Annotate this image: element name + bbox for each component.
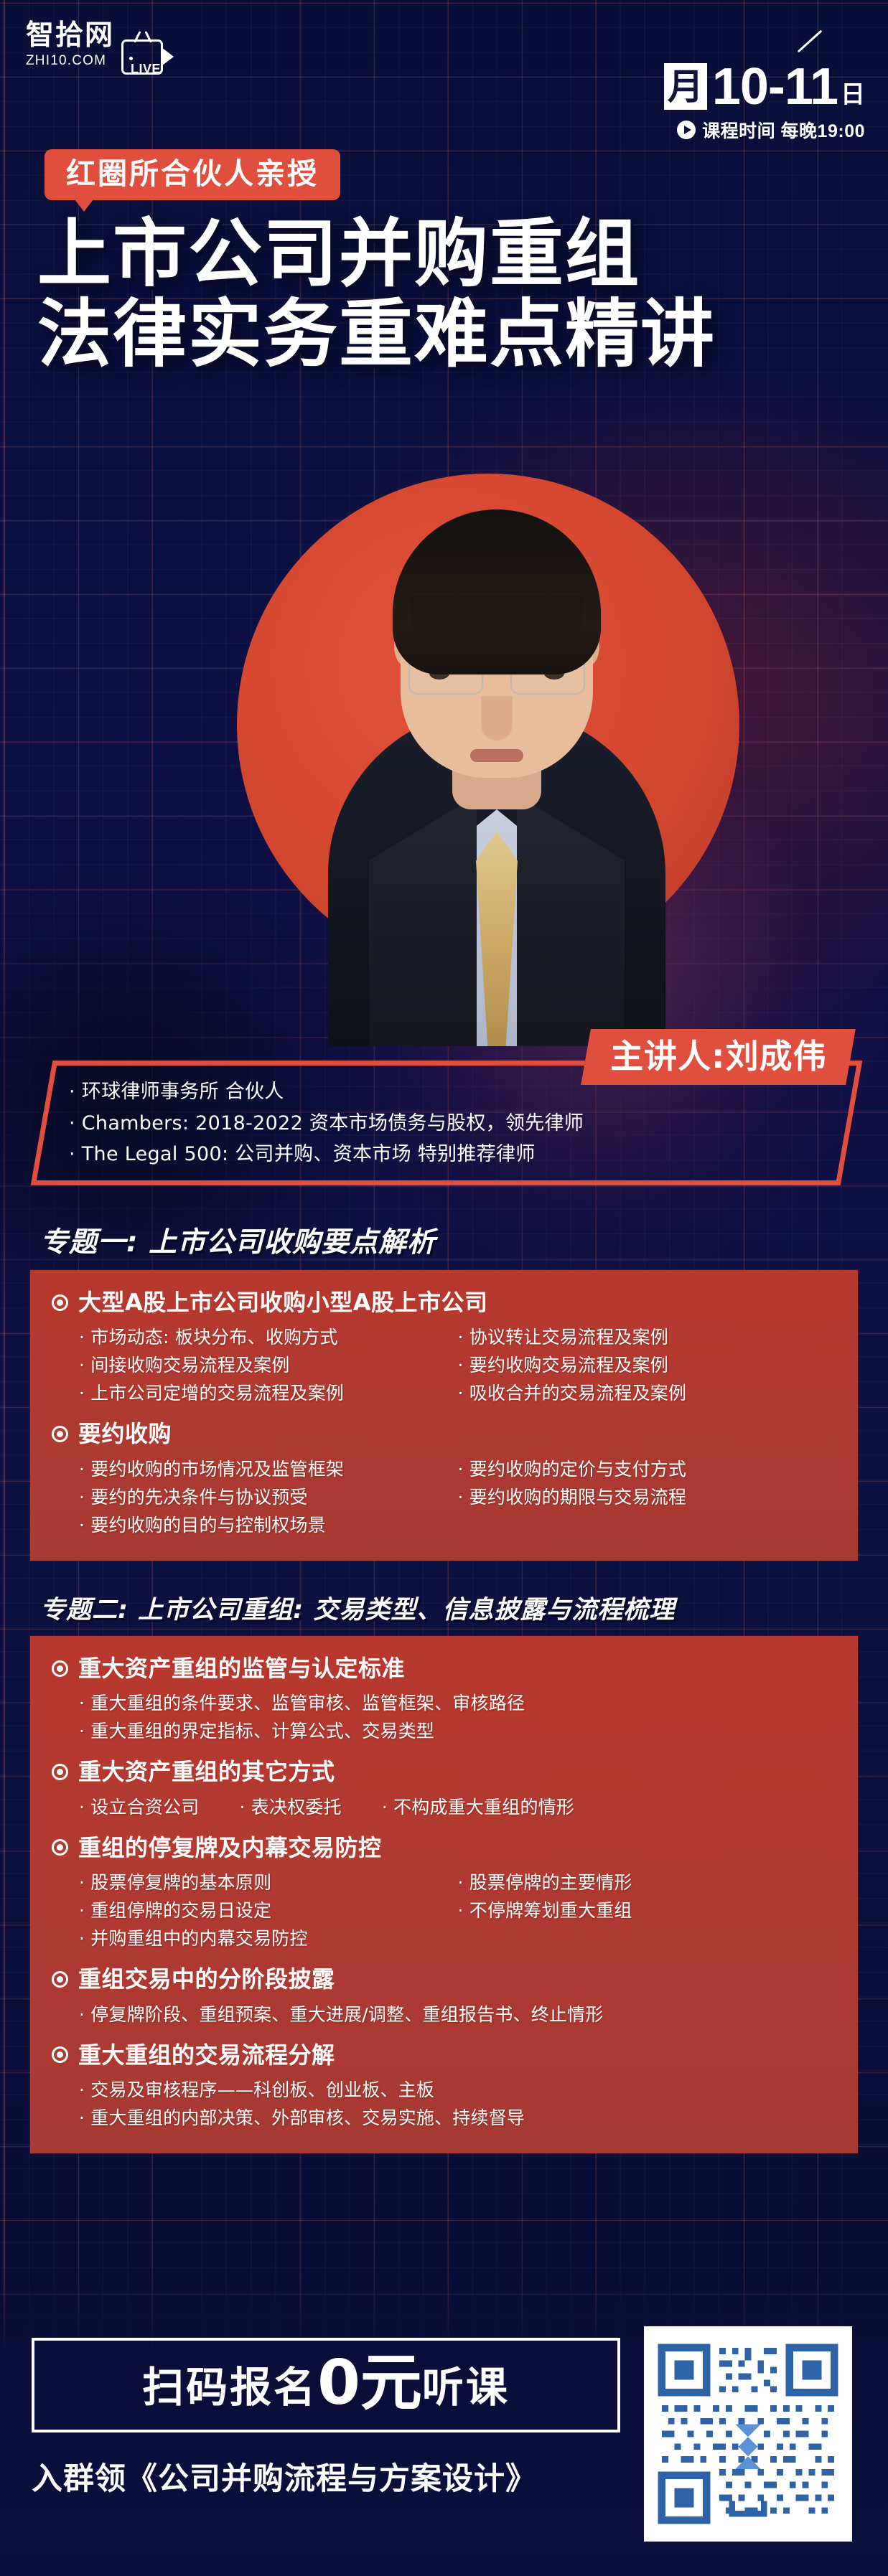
page-title: 上市公司并购重组 法律实务重难点精讲 [37, 215, 856, 373]
group-items: 股票停复牌的基本原则 股票停牌的主要情形 重组停牌的交易日设定 不停牌筹划重大重… [52, 1868, 836, 1952]
group-title-text: 重组交易中的分阶段披露 [78, 1965, 335, 1993]
group-title-text: 重大资产重组的监管与认定标准 [78, 1655, 405, 1682]
topic-group: 要约收购 要约收购的市场情况及监管框架 要约收购的定价与支付方式 要约的先决条件… [52, 1420, 836, 1538]
group-title-text: 要约收购 [78, 1420, 172, 1447]
list-item: 股票停牌的主要情形 [458, 1868, 837, 1896]
group-title-text: 大型A股上市公司收购小型A股上市公司 [78, 1289, 488, 1316]
group-items: 交易及审核程序——科创板、创业板、主板 重大重组的内部决策、外部审核、交易实施、… [52, 2076, 836, 2132]
day-label: 日 [841, 83, 865, 110]
course-date-block: 月 10-11 日 课程时间 每晚19:00 [664, 63, 865, 143]
group-title-row: 重组交易中的分阶段披露 [52, 1965, 836, 1993]
bullet-ring-icon [52, 1764, 68, 1780]
title-line-2: 法律实务重难点精讲 [37, 296, 856, 373]
group-items: 重大重组的条件要求、监管审核、监管框架、审核路径 重大重组的界定指标、计算公式、… [52, 1689, 836, 1745]
portrait-nose [481, 696, 513, 741]
brand-name-cn: 智拾网 [26, 22, 114, 51]
topic-1-box: 大型A股上市公司收购小型A股上市公司 市场动态: 板块分布、收购方式 协议转让交… [30, 1270, 858, 1561]
list-item: 间接收购交易流程及案例 [79, 1351, 458, 1379]
list-item: 不构成重大重组的情形 [382, 1793, 574, 1821]
day-range: 10-11 [712, 65, 838, 110]
list-item: 重大重组的条件要求、监管审核、监管框架、审核路径 [79, 1689, 836, 1717]
list-item: 股票停复牌的基本原则 [79, 1868, 458, 1896]
bullet-ring-icon [52, 1294, 68, 1311]
speaker-name-text: 主讲人:刘成伟 [610, 1040, 826, 1073]
tv-live-icon: LIVE [121, 30, 174, 75]
list-item: 并购重组中的内幕交易防控 [79, 1924, 458, 1952]
list-item: 要约收购的目的与控制权场景 [79, 1511, 458, 1539]
topic-group: 重组交易中的分阶段披露 停复牌阶段、重组预案、重大进展/调整、重组报告书、终止情… [52, 1965, 836, 2028]
topic-2-box: 重大资产重组的监管与认定标准 重大重组的条件要求、监管审核、监管框架、审核路径 … [30, 1636, 858, 2153]
list-item: 协议转让交易流程及案例 [458, 1323, 837, 1351]
instructor-tag: 红圈所合伙人亲授 [45, 149, 340, 200]
list-item: 要约收购的期限与交易流程 [458, 1483, 837, 1511]
cta-block[interactable]: 扫码报名 0 元 听课 入群领《公司并购流程与方案设计》 [32, 2338, 620, 2499]
group-title-text: 重大重组的交易流程分解 [78, 2041, 335, 2069]
topic-section-1: 专题一: 上市公司收购要点解析 大型A股上市公司收购小型A股上市公司 市场动态:… [30, 1220, 858, 1561]
speaker-credentials: 环球律师事务所 合伙人 Chambers: 2018-2022 资本市场债务与股… [69, 1076, 787, 1170]
instructor-tag-text: 红圈所合伙人亲授 [66, 156, 319, 191]
bullet-ring-icon [52, 1660, 68, 1677]
topic-group: 重大重组的交易流程分解 交易及审核程序——科创板、创业板、主板 重大重组的内部决… [52, 2041, 836, 2132]
list-item: 上市公司定增的交易流程及案例 [79, 1379, 458, 1407]
cta-prefix: 扫码报名 [142, 2354, 317, 2414]
list-item: 要约收购交易流程及案例 [458, 1351, 837, 1379]
topic-group: 大型A股上市公司收购小型A股上市公司 市场动态: 板块分布、收购方式 协议转让交… [52, 1289, 836, 1407]
list-item: 重组停牌的交易日设定 [79, 1896, 458, 1924]
list-item: 吸收合并的交易流程及案例 [458, 1379, 837, 1407]
live-label: LIVE [129, 62, 162, 77]
qr-code-graphic [655, 2338, 841, 2530]
brand-logo: 智拾网 ZHI10.COM LIVE [26, 22, 174, 75]
group-items: 要约收购的市场情况及监管框架 要约收购的定价与支付方式 要约的先决条件与协议预受… [52, 1455, 836, 1539]
title-line-1: 上市公司并购重组 [37, 215, 856, 293]
bullet-ring-icon [52, 1971, 68, 1988]
list-item: 不停牌筹划重大重组 [458, 1896, 837, 1924]
bullet-ring-icon [52, 1426, 68, 1442]
play-icon [677, 121, 696, 139]
qr-code-icon[interactable] [644, 2326, 852, 2542]
list-item: 市场动态: 板块分布、收购方式 [79, 1323, 458, 1351]
list-item: 重大重组的内部决策、外部审核、交易实施、持续督导 [79, 2104, 836, 2132]
cta-suffix: 听课 [422, 2354, 510, 2414]
list-item: 设立合资公司 [79, 1793, 200, 1821]
cta-unit: 元 [360, 2356, 422, 2411]
footer-bar [0, 2554, 888, 2576]
group-items: 市场动态: 板块分布、收购方式 协议转让交易流程及案例 间接收购交易流程及案例 … [52, 1323, 836, 1407]
speaker-portrait [324, 459, 669, 1046]
topic-group: 重大资产重组的其它方式 设立合资公司 表决权委托 不构成重大重组的情形 [52, 1758, 836, 1820]
group-title-text: 重大资产重组的其它方式 [78, 1758, 335, 1785]
month-label: 月 [664, 63, 707, 110]
list-item: 要约收购的市场情况及监管框架 [79, 1455, 458, 1483]
course-time-text: 课程时间 每晚19:00 [702, 117, 865, 143]
topic-2-heading: 专题二: 上市公司重组: 交易类型、信息披露与流程梳理 [30, 1589, 858, 1636]
group-title-row: 大型A股上市公司收购小型A股上市公司 [52, 1289, 836, 1316]
speaker-name-badge: 主讲人:刘成伟 [581, 1029, 856, 1085]
list-item: 停复牌阶段、重组预案、重大进展/调整、重组报告书、终止情形 [79, 2001, 836, 2029]
group-title-row: 重组的停复牌及内幕交易防控 [52, 1834, 836, 1861]
tv-body: LIVE [121, 39, 163, 75]
portrait-hair [393, 509, 601, 674]
group-title-row: 要约收购 [52, 1420, 836, 1447]
group-items: 停复牌阶段、重组预案、重大进展/调整、重组报告书、终止情形 [52, 2001, 836, 2029]
list-item: 重大重组的界定指标、计算公式、交易类型 [79, 1717, 836, 1745]
group-title-text: 重组的停复牌及内幕交易防控 [78, 1834, 382, 1861]
group-title-row: 重大资产重组的其它方式 [52, 1758, 836, 1785]
topic-1-heading: 专题一: 上市公司收购要点解析 [30, 1220, 858, 1270]
list-item: 要约的先决条件与协议预受 [79, 1483, 458, 1511]
bullet-ring-icon [52, 2046, 68, 2063]
topic-group: 重组的停复牌及内幕交易防控 股票停复牌的基本原则 股票停牌的主要情形 重组停牌的… [52, 1834, 836, 1952]
register-button[interactable]: 扫码报名 0 元 听课 [32, 2338, 620, 2432]
cta-subtitle: 入群领《公司并购流程与方案设计》 [32, 2454, 620, 2499]
cta-price: 0 [317, 2356, 360, 2411]
credential-item: The Legal 500: 公司并购、资本市场 特别推荐律师 [69, 1139, 787, 1170]
credential-item: Chambers: 2018-2022 资本市场债务与股权，领先律师 [69, 1108, 787, 1139]
list-item: 交易及审核程序——科创板、创业板、主板 [79, 2076, 836, 2104]
brand-name-en: ZHI10.COM [26, 53, 114, 69]
camera-lens-icon [162, 47, 174, 66]
group-title-row: 重大资产重组的监管与认定标准 [52, 1655, 836, 1682]
portrait-mouth [470, 749, 523, 762]
tv-indicator-dot [129, 57, 133, 60]
topic-section-2: 专题二: 上市公司重组: 交易类型、信息披露与流程梳理 重大资产重组的监管与认定… [30, 1589, 858, 2153]
group-items: 设立合资公司 表决权委托 不构成重大重组的情形 [52, 1793, 836, 1821]
group-title-row: 重大重组的交易流程分解 [52, 2041, 836, 2069]
topic-group: 重大资产重组的监管与认定标准 重大重组的条件要求、监管审核、监管框架、审核路径 … [52, 1655, 836, 1745]
list-item: 要约收购的定价与支付方式 [458, 1455, 837, 1483]
promo-poster: 智拾网 ZHI10.COM LIVE 月 10-11 日 课程时间 每晚19:0… [0, 0, 888, 2576]
course-time-row: 课程时间 每晚19:00 [664, 117, 865, 143]
list-item: 表决权委托 [240, 1793, 342, 1821]
bullet-ring-icon [52, 1839, 68, 1856]
